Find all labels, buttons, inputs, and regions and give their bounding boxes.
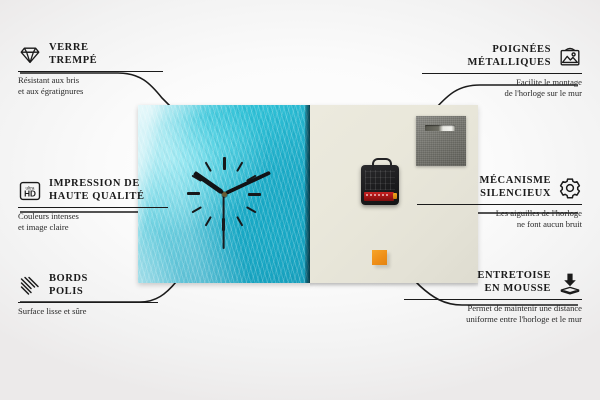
feature-description: Les aiguilles de l'horloge ne font aucun… — [417, 208, 582, 229]
clock-center-pin — [222, 192, 227, 197]
feature-desc-line2: ne font aucun bruit — [517, 219, 582, 229]
feature-desc-line1: Les aiguilles de l'horloge — [496, 208, 582, 218]
ultra-hd-icon: ultra HD — [18, 179, 42, 203]
battery — [364, 192, 394, 201]
feature-title-line2: MÉTALLIQUES — [468, 57, 551, 68]
feature-title-line1: VERRE — [49, 42, 89, 53]
feature-title: POIGNÉES MÉTALLIQUES — [468, 44, 551, 69]
feature-title: VERRE TREMPÉ — [49, 42, 97, 67]
diamond-icon — [18, 43, 42, 67]
hanger-loop-icon — [372, 158, 392, 170]
feature-description: Résistant aux bris et aux égratignures — [18, 75, 163, 96]
feature-header: ENTRETOISE EN MOUSSE — [404, 270, 582, 295]
feature-divider — [417, 204, 582, 205]
feature-description: Permet de maintenir une distance uniform… — [404, 303, 582, 324]
picture-frame-icon — [558, 45, 582, 69]
feature-divider — [18, 207, 168, 208]
feature-title: ENTRETOISE EN MOUSSE — [477, 270, 551, 295]
feature-header: POIGNÉES MÉTALLIQUES — [422, 44, 582, 69]
feature-verre-trempe: VERRE TREMPÉ Résistant aux bris et aux é… — [18, 42, 163, 97]
feature-divider — [422, 73, 582, 74]
feature-title-line1: POIGNÉES — [492, 44, 551, 55]
feature-title: IMPRESSION DE HAUTE QUALITÉ — [49, 178, 145, 203]
feature-divider — [18, 302, 158, 303]
feature-title-line2: SILENCIEUX — [480, 188, 551, 199]
feature-divider — [18, 71, 163, 72]
clock-second-hand — [223, 194, 225, 249]
feature-desc-line1: Permet de maintenir une distance — [467, 303, 582, 313]
feature-impression-haute-qualite: ultra HD IMPRESSION DE HAUTE QUALITÉ Cou… — [18, 178, 168, 233]
feature-description: Surface lisse et sûre — [18, 306, 158, 317]
metal-hanger-plate — [416, 116, 466, 166]
feature-desc-line2: uniforme entre l'horloge et le mur — [466, 314, 582, 324]
foam-spacer — [372, 250, 387, 265]
feature-header: ultra HD IMPRESSION DE HAUTE QUALITÉ — [18, 178, 168, 203]
feature-title-line1: IMPRESSION DE — [49, 178, 140, 189]
polished-edges-icon — [18, 274, 42, 298]
feature-title-line2: EN MOUSSE — [484, 283, 551, 294]
feature-desc-line2: de l'horloge sur le mur — [505, 88, 582, 98]
feature-desc-line2: et image claire — [18, 222, 69, 232]
feature-divider — [404, 299, 582, 300]
feature-header: BORDS POLIS — [18, 273, 158, 298]
feature-header: MÉCANISME SILENCIEUX — [417, 175, 582, 200]
gear-icon — [558, 176, 582, 200]
feature-title-line1: BORDS — [49, 273, 88, 284]
feature-desc-line1: Couleurs intenses — [18, 211, 79, 221]
feature-title: BORDS POLIS — [49, 273, 88, 298]
feature-desc-line1: Surface lisse et sûre — [18, 306, 87, 316]
feature-title-line2: HAUTE QUALITÉ — [49, 191, 145, 202]
feature-title: MÉCANISME SILENCIEUX — [480, 175, 551, 200]
feature-description: Couleurs intenses et image claire — [18, 211, 168, 232]
feature-title-line2: TREMPÉ — [49, 55, 97, 66]
hanger-slot — [425, 125, 455, 131]
feature-mecanisme-silencieux: MÉCANISME SILENCIEUX Les aiguilles de l'… — [417, 175, 582, 230]
feature-title-line2: POLIS — [49, 286, 83, 297]
feature-desc-line1: Résistant aux bris — [18, 75, 79, 85]
feature-entretoise-en-mousse: ENTRETOISE EN MOUSSE Permet de maintenir… — [404, 270, 582, 325]
mechanism-texture — [365, 170, 395, 190]
feature-poignees-metalliques: POIGNÉES MÉTALLIQUES Facilite le montage… — [422, 44, 582, 99]
clock-mechanism — [361, 165, 399, 205]
feature-title-line1: MÉCANISME — [480, 175, 551, 186]
feature-header: VERRE TREMPÉ — [18, 42, 163, 67]
ultra-hd-icon-main-text: HD — [24, 189, 36, 198]
feature-desc-line1: Facilite le montage — [516, 77, 582, 87]
feature-desc-line2: et aux égratignures — [18, 86, 83, 96]
feature-bords-polis: BORDS POLIS Surface lisse et sûre — [18, 273, 158, 317]
feature-description: Facilite le montage de l'horloge sur le … — [422, 77, 582, 98]
feature-title-line1: ENTRETOISE — [477, 270, 551, 281]
foam-spacer-icon — [558, 271, 582, 295]
infographic-stage: VERRE TREMPÉ Résistant aux bris et aux é… — [0, 0, 600, 400]
